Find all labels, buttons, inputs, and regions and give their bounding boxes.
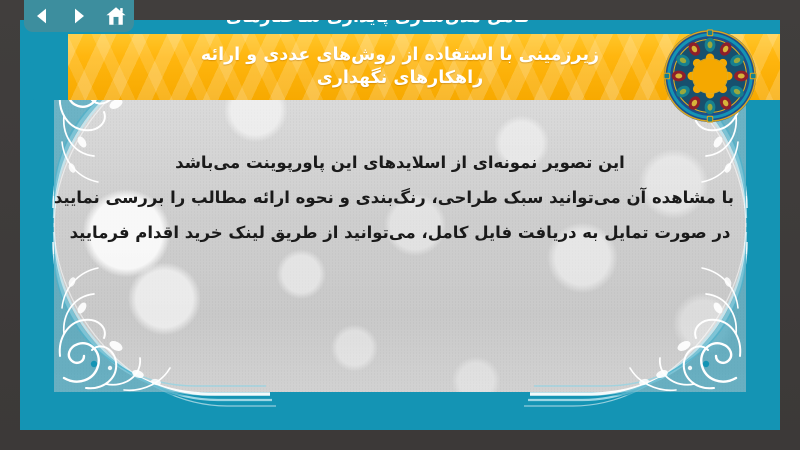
slide-canvas[interactable]: زیرزمینی با استفاده از روش‌های عددی و ار…	[20, 20, 780, 430]
home-button[interactable]	[102, 3, 130, 29]
slide-title-line-2: زیرزمینی با استفاده از روش‌های عددی و ار…	[201, 44, 599, 67]
triangle-right-icon	[69, 6, 89, 26]
persian-medallion-ornament	[662, 28, 758, 124]
title-band-tab	[20, 34, 68, 100]
slide-title-line-3: راهکارهای نگهداری	[201, 67, 599, 90]
slide-viewer: زیرزمینی با استفاده از روش‌های عددی و ار…	[0, 0, 800, 450]
next-slide-button[interactable]	[65, 3, 93, 29]
home-icon	[105, 5, 127, 27]
slide-body-line-3: در صورت تمایل به دریافت فایل کامل، می‌تو…	[66, 215, 734, 250]
triangle-left-icon	[32, 6, 52, 26]
slide-body-line-1: این تصویر نمونه‌ای از اسلایدهای این پاور…	[66, 145, 734, 180]
slide-title: زیرزمینی با استفاده از روش‌های عددی و ار…	[183, 44, 665, 90]
previous-slide-button[interactable]	[28, 3, 56, 29]
slide-body-line-2: با مشاهده آن می‌توانید سبک طراحی، رنگ‌بن…	[66, 180, 734, 215]
slide-navigation-toolbar	[24, 0, 134, 32]
slide-body-text: این تصویر نمونه‌ای از اسلایدهای این پاور…	[66, 145, 734, 250]
